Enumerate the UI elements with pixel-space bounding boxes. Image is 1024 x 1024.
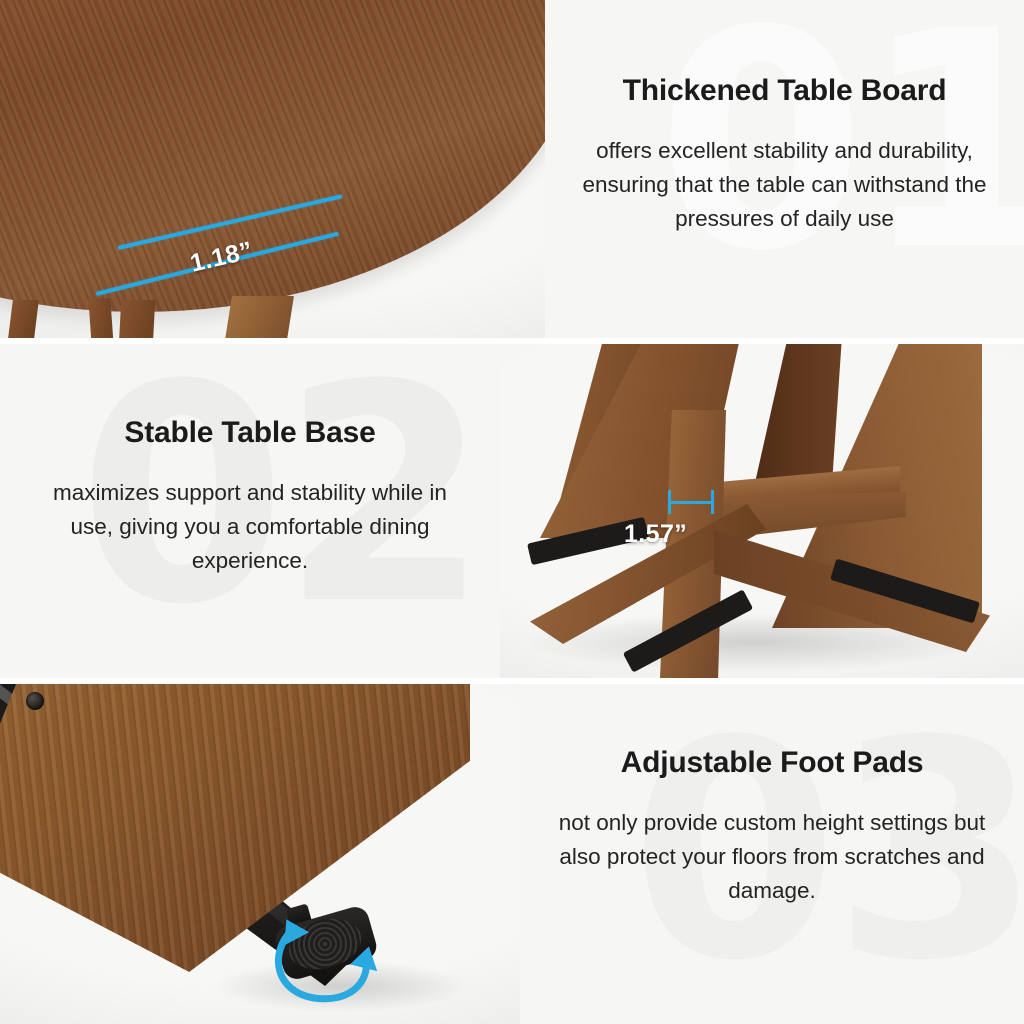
feature-text-01: 01 Thickened Table Board offers excellen… bbox=[545, 0, 1024, 338]
table-leg bbox=[7, 300, 39, 338]
feature-panel-01: 1.18” 01 Thickened Table Board offers ex… bbox=[0, 0, 1024, 338]
product-feature-infographic: 1.18” 01 Thickened Table Board offers ex… bbox=[0, 0, 1024, 1024]
table-leg bbox=[88, 298, 113, 338]
feature-description-03: not only provide custom height settings … bbox=[556, 806, 988, 909]
feature-panel-02: 02 Stable Table Base maximizes support a… bbox=[0, 344, 1024, 678]
table-base-photo: 1.57” bbox=[500, 344, 1024, 678]
feature-text-03: 03 Adjustable Foot Pads not only provide… bbox=[520, 684, 1024, 1024]
foot-pad-photo bbox=[0, 684, 520, 1024]
rotation-arrow-icon bbox=[262, 896, 392, 1006]
feature-panel-03: 03 Adjustable Foot Pads not only provide… bbox=[0, 684, 1024, 1024]
round-table-top bbox=[0, 0, 545, 312]
table-leg bbox=[224, 296, 294, 338]
feature-description-01: offers excellent stability and durabilit… bbox=[581, 134, 988, 237]
feature-title-01: Thickened Table Board bbox=[581, 74, 988, 108]
feature-title-02: Stable Table Base bbox=[36, 416, 464, 450]
feature-text-02: 02 Stable Table Base maximizes support a… bbox=[0, 344, 500, 678]
dimension-label-base-thickness: 1.57” bbox=[624, 520, 687, 549]
table-top-photo: 1.18” bbox=[0, 0, 545, 338]
feature-title-03: Adjustable Foot Pads bbox=[556, 746, 988, 780]
screw-head-icon bbox=[26, 692, 44, 710]
table-leg bbox=[119, 300, 155, 338]
dimension-marker-icon bbox=[668, 490, 714, 514]
wood-panel bbox=[0, 684, 470, 972]
feature-description-02: maximizes support and stability while in… bbox=[36, 476, 464, 579]
